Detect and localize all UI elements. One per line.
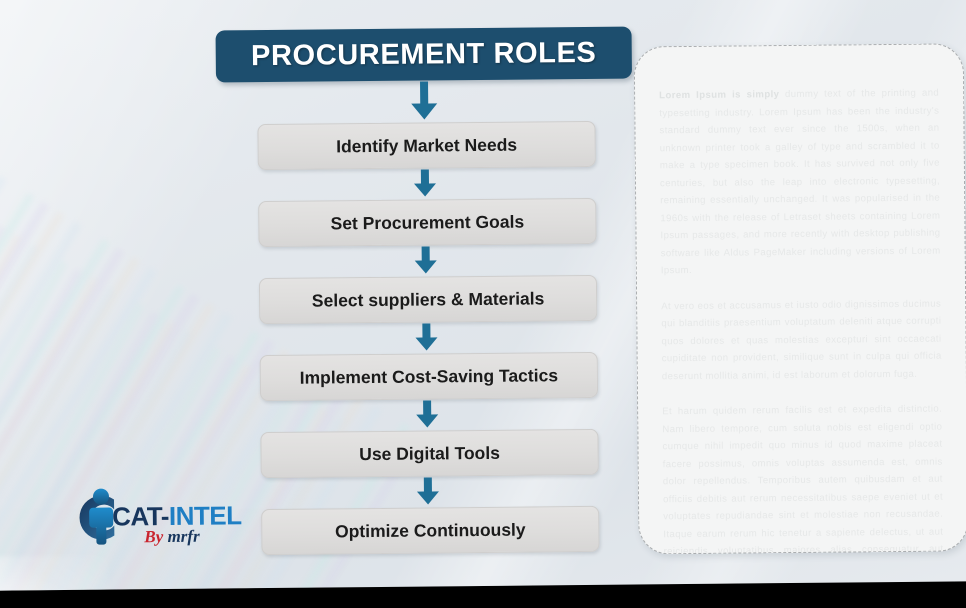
flow-arrow-5: [219, 398, 635, 433]
down-arrow-icon: [409, 81, 439, 121]
background-corner-highlight: [0, 556, 109, 591]
logo-tagline-brand: mrfr: [167, 527, 199, 546]
flow-step-label: Identify Market Needs: [336, 134, 517, 157]
flow-arrow-6: [220, 475, 636, 510]
placeholder-lead-1: Lorem Ipsum is simply: [659, 89, 779, 101]
flow-step-3[interactable]: Select suppliers & Materials: [259, 275, 597, 324]
down-arrow-icon: [415, 477, 441, 506]
flow-step-label: Implement Cost-Saving Tactics: [300, 365, 559, 388]
flow-step-6[interactable]: Optimize Continuously: [261, 506, 599, 555]
placeholder-text-panel: Lorem Ipsum is simply dummy text of the …: [634, 43, 966, 554]
down-arrow-icon: [413, 246, 439, 275]
flow-step-label: Select suppliers & Materials: [312, 288, 545, 311]
cat-intel-logo: CAT-INTEL By mrfr: [66, 484, 247, 558]
flow-step-5[interactable]: Use Digital Tools: [260, 429, 598, 478]
logo-tagline-by: By: [144, 527, 163, 546]
slide-canvas: PROCUREMENT ROLES Identify Market Needs …: [0, 0, 966, 608]
flow-step-4[interactable]: Implement Cost-Saving Tactics: [260, 352, 598, 401]
down-arrow-icon: [412, 169, 438, 198]
slide-background: PROCUREMENT ROLES Identify Market Needs …: [0, 0, 966, 591]
flow-step-label: Optimize Continuously: [335, 519, 526, 542]
procurement-flow-chart: PROCUREMENT ROLES Identify Market Needs …: [216, 27, 603, 556]
flow-arrow-3: [218, 244, 634, 279]
down-arrow-icon: [413, 323, 439, 352]
flow-arrow-2: [217, 167, 633, 202]
placeholder-body-2: At vero eos et accusamus et iusto odio d…: [661, 298, 942, 382]
placeholder-paragraph-3: Et harum quidem rerum facilis est et exp…: [662, 401, 944, 555]
placeholder-paragraph-2: At vero eos et accusamus et iusto odio d…: [661, 295, 942, 385]
logo-tagline: By mrfr: [144, 527, 199, 548]
flow-step-label: Use Digital Tools: [359, 442, 500, 464]
down-arrow-icon: [414, 400, 440, 429]
flow-step-1[interactable]: Identify Market Needs: [257, 121, 595, 170]
flow-step-2[interactable]: Set Procurement Goals: [258, 198, 596, 247]
placeholder-body-3: Et harum quidem rerum facilis est et exp…: [662, 404, 943, 555]
placeholder-body-1: dummy text of the printing and typesetti…: [659, 88, 940, 277]
page-title: PROCUREMENT ROLES: [251, 36, 597, 72]
flow-arrow-4: [218, 321, 634, 356]
flow-step-label: Set Procurement Goals: [330, 211, 524, 234]
flow-title-banner: PROCUREMENT ROLES: [216, 27, 632, 83]
flow-arrow-1: [216, 79, 632, 125]
placeholder-paragraph-1: Lorem Ipsum is simply dummy text of the …: [659, 85, 941, 280]
